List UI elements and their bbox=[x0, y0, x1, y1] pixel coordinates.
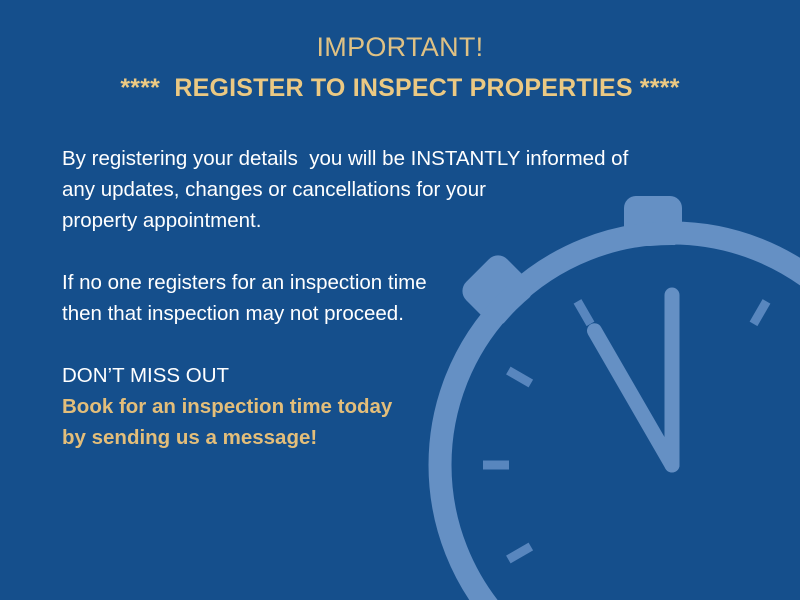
cta-send-message: by sending us a message! bbox=[62, 422, 628, 453]
paragraph-line: then that inspection may not proceed. bbox=[62, 298, 628, 329]
paragraph-spacer bbox=[62, 236, 628, 267]
paragraph-registering-benefit: By registering your details you will be … bbox=[62, 143, 628, 236]
page-title-register: **** REGISTER TO INSPECT PROPERTIES **** bbox=[0, 72, 800, 104]
paragraph-line: property appointment. bbox=[62, 205, 628, 236]
paragraph-line: any updates, changes or cancellations fo… bbox=[62, 174, 628, 205]
clock-crown-icon bbox=[624, 196, 682, 246]
heading-block: IMPORTANT! **** REGISTER TO INSPECT PROP… bbox=[0, 30, 800, 104]
slide-canvas: IMPORTANT! **** REGISTER TO INSPECT PROP… bbox=[0, 0, 800, 600]
page-title-important: IMPORTANT! bbox=[0, 30, 800, 64]
cta-book-inspection: Book for an inspection time today bbox=[62, 391, 628, 422]
paragraph-no-registration-warning: If no one registers for an inspection ti… bbox=[62, 267, 628, 329]
paragraph-line: By registering your details you will be … bbox=[62, 143, 628, 174]
body-copy: By registering your details you will be … bbox=[62, 143, 628, 453]
call-to-action-block: DON’T MISS OUT Book for an inspection ti… bbox=[62, 360, 628, 453]
cta-dont-miss-out: DON’T MISS OUT bbox=[62, 360, 628, 391]
paragraph-spacer bbox=[62, 329, 628, 360]
paragraph-line: If no one registers for an inspection ti… bbox=[62, 267, 628, 298]
